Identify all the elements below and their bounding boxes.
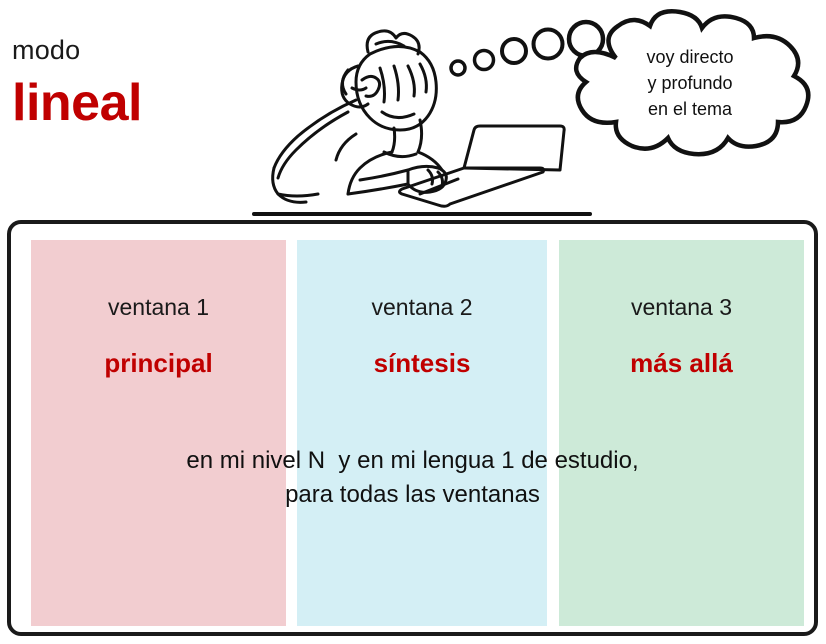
windows-columns: ventana 1 principal ventana 2 síntesis v… xyxy=(11,224,814,632)
thought-bubble: voy directo y profundo en el tema xyxy=(556,8,824,160)
heading-main: lineal xyxy=(12,76,272,131)
window-1-title: principal xyxy=(31,348,286,379)
window-2-title: síntesis xyxy=(297,348,547,379)
window-1-label: ventana 1 xyxy=(31,294,286,321)
window-column-2[interactable]: ventana 2 síntesis xyxy=(297,240,547,626)
heading-block: modo lineal xyxy=(12,36,272,130)
window-3-label: ventana 3 xyxy=(559,294,804,321)
window-2-label: ventana 2 xyxy=(297,294,547,321)
window-column-1[interactable]: ventana 1 principal xyxy=(31,240,286,626)
diagram-canvas: modo lineal xyxy=(0,0,826,644)
window-column-3[interactable]: ventana 3 más allá xyxy=(559,240,804,626)
windows-frame: ventana 1 principal ventana 2 síntesis v… xyxy=(7,220,818,636)
window-3-title: más allá xyxy=(559,348,804,379)
heading-kicker: modo xyxy=(12,36,272,66)
